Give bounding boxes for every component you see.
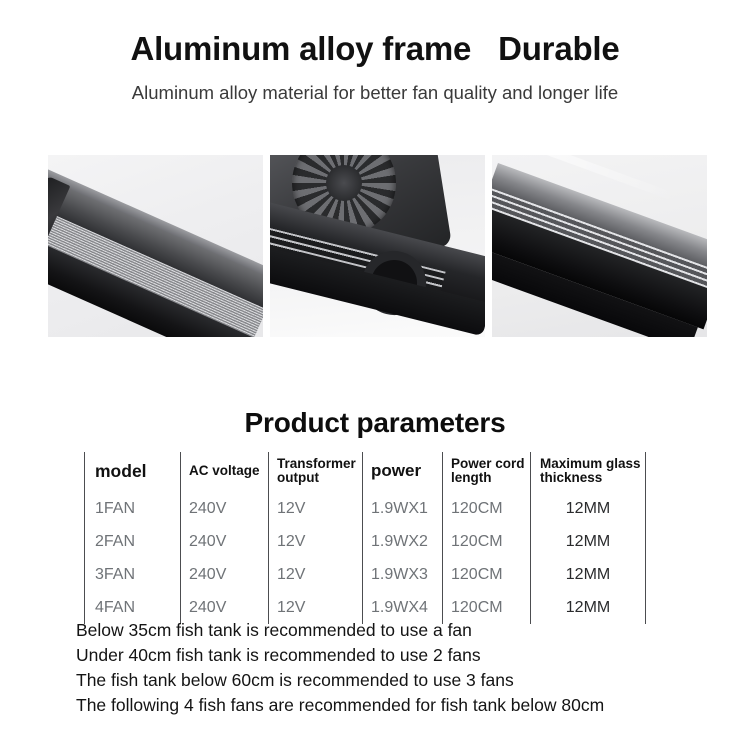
specs-table: model AC voltage Transformer output powe… (84, 452, 646, 624)
specs-table-head: model AC voltage Transformer output powe… (85, 452, 646, 492)
note-line: Below 35cm fish tank is recommended to u… (76, 618, 716, 643)
note-line: Under 40cm fish tank is recommended to u… (76, 643, 716, 668)
cell-max-glass-thickness: 12MM (531, 492, 646, 525)
table-header-row: model AC voltage Transformer output powe… (85, 452, 646, 492)
recommendation-notes: Below 35cm fish tank is recommended to u… (76, 618, 716, 717)
column-header-ac-voltage: AC voltage (181, 452, 269, 492)
specs-heading: Product parameters (0, 407, 750, 439)
fan-hub (326, 165, 362, 201)
cell-power: 1.9WX2 (363, 525, 443, 558)
cell-transformer-output: 12V (269, 492, 363, 525)
table-row: 2FAN 240V 12V 1.9WX2 120CM 12MM (85, 525, 646, 558)
cell-model: 1FAN (85, 492, 181, 525)
cell-power-cord-length: 120CM (443, 525, 531, 558)
specs-table-wrapper: model AC voltage Transformer output powe… (84, 452, 645, 606)
product-photo-fan-unit-with-grille (270, 155, 485, 337)
column-header-transformer-output: Transformer output (269, 452, 363, 492)
specs-table-body: 1FAN 240V 12V 1.9WX1 120CM 12MM 2FAN 240… (85, 492, 646, 624)
cell-ac-voltage: 240V (181, 525, 269, 558)
cell-transformer-output: 12V (269, 558, 363, 591)
cell-power-cord-length: 120CM (443, 558, 531, 591)
cell-power-cord-length: 120CM (443, 492, 531, 525)
table-row: 3FAN 240V 12V 1.9WX3 120CM 12MM (85, 558, 646, 591)
cell-power: 1.9WX1 (363, 492, 443, 525)
note-line: The fish tank below 60cm is recommended … (76, 668, 716, 693)
page-subtitle: Aluminum alloy material for better fan q… (0, 82, 750, 104)
column-header-power: power (363, 452, 443, 492)
table-row: 1FAN 240V 12V 1.9WX1 120CM 12MM (85, 492, 646, 525)
cell-ac-voltage: 240V (181, 558, 269, 591)
cell-power: 1.9WX3 (363, 558, 443, 591)
cell-model: 3FAN (85, 558, 181, 591)
product-photo-gallery (48, 155, 707, 337)
column-header-model: model (85, 452, 181, 492)
column-header-power-cord-length: Power cord length (443, 452, 531, 492)
page-title: Aluminum alloy frame Durable (0, 30, 750, 68)
cell-max-glass-thickness: 12MM (531, 558, 646, 591)
cell-max-glass-thickness: 12MM (531, 525, 646, 558)
hero-section: Aluminum alloy frame Durable Aluminum al… (0, 30, 750, 104)
product-photo-aluminum-extrusion-profile (48, 155, 263, 337)
product-photo-frame-profile-closeup (492, 155, 707, 337)
note-line: The following 4 fish fans are recommende… (76, 693, 716, 718)
cell-transformer-output: 12V (269, 525, 363, 558)
column-header-max-glass-thickness: Maximum glass thickness (531, 452, 646, 492)
cell-ac-voltage: 240V (181, 492, 269, 525)
cell-model: 2FAN (85, 525, 181, 558)
